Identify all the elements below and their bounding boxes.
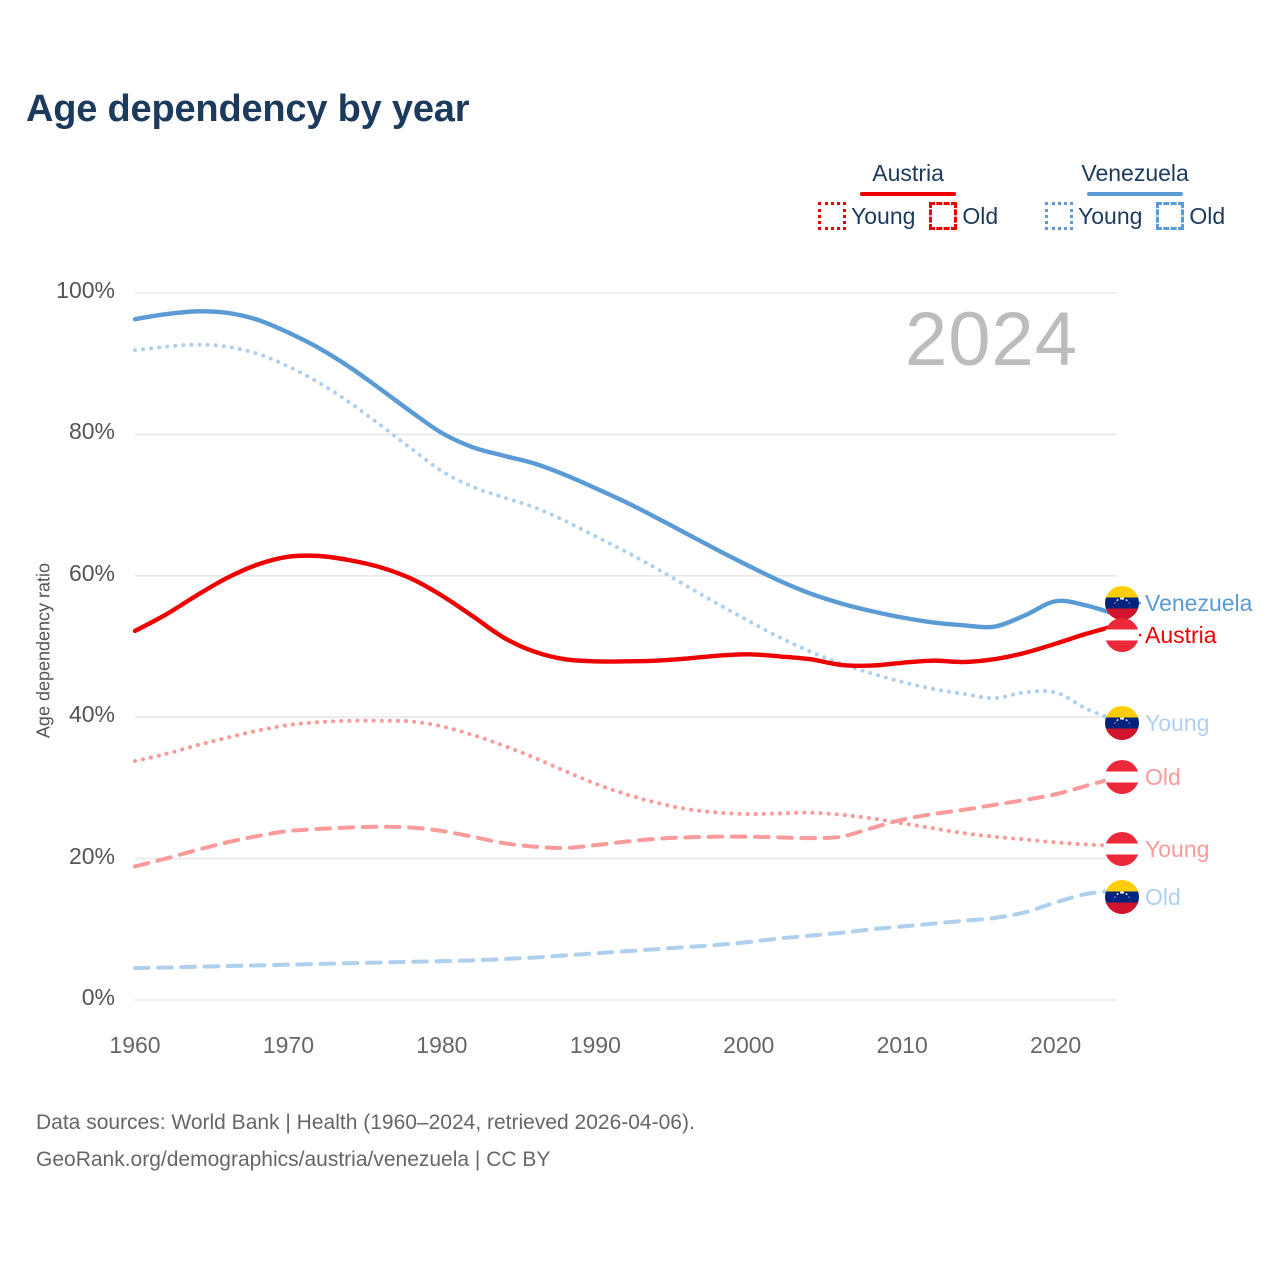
- y-tick-label: 100%: [25, 277, 115, 304]
- venezuela-flag-icon: [1105, 586, 1139, 620]
- series-end-label[interactable]: Old: [1105, 880, 1181, 914]
- series-end-label[interactable]: Young: [1105, 706, 1209, 740]
- footer: Data sources: World Bank | Health (1960–…: [36, 1105, 695, 1179]
- y-tick-label: 80%: [25, 418, 115, 445]
- series-end-label[interactable]: Old: [1105, 760, 1181, 794]
- series-end-label[interactable]: Venezuela: [1105, 586, 1252, 620]
- series-end-label-text: Young: [1145, 836, 1209, 863]
- venezuela-flag-icon: [1105, 706, 1139, 740]
- plot-svg: [0, 0, 1280, 1280]
- y-tick-label: 60%: [25, 560, 115, 587]
- series-line-austria-young: [135, 721, 1117, 846]
- austria-flag-icon: [1105, 618, 1139, 652]
- x-tick-label: 1970: [243, 1032, 333, 1059]
- series-end-label-text: Old: [1145, 764, 1181, 791]
- x-tick-label: 2020: [1011, 1032, 1101, 1059]
- series-end-label-text: Old: [1145, 884, 1181, 911]
- austria-flag-icon: [1105, 760, 1139, 794]
- x-tick-label: 1980: [397, 1032, 487, 1059]
- series-line-venezuela-young: [135, 345, 1117, 721]
- y-tick-label: 0%: [25, 984, 115, 1011]
- line-chart: 2024 Age dependency ratio 0%20%40%60%80%…: [0, 0, 1280, 1280]
- x-tick-label: 2000: [704, 1032, 794, 1059]
- venezuela-flag-icon: [1105, 880, 1139, 914]
- y-tick-label: 40%: [25, 701, 115, 728]
- series-end-label[interactable]: Young: [1105, 832, 1209, 866]
- series-line-venezuela-old: [135, 890, 1117, 968]
- series-line-austria-total: [135, 556, 1117, 666]
- series-end-label[interactable]: Austria: [1105, 618, 1217, 652]
- series-end-label-text: Young: [1145, 710, 1209, 737]
- y-tick-label: 20%: [25, 843, 115, 870]
- series-end-label-text: Austria: [1145, 622, 1217, 649]
- series-end-label-text: Venezuela: [1145, 590, 1252, 617]
- x-tick-label: 2010: [857, 1032, 947, 1059]
- footer-attribution: GeoRank.org/demographics/austria/venezue…: [36, 1142, 695, 1179]
- footer-data-sources: Data sources: World Bank | Health (1960–…: [36, 1105, 695, 1142]
- austria-flag-icon: [1105, 832, 1139, 866]
- series-line-austria-old: [135, 777, 1117, 866]
- x-tick-label: 1990: [550, 1032, 640, 1059]
- year-watermark: 2024: [905, 296, 1078, 383]
- x-tick-label: 1960: [90, 1032, 180, 1059]
